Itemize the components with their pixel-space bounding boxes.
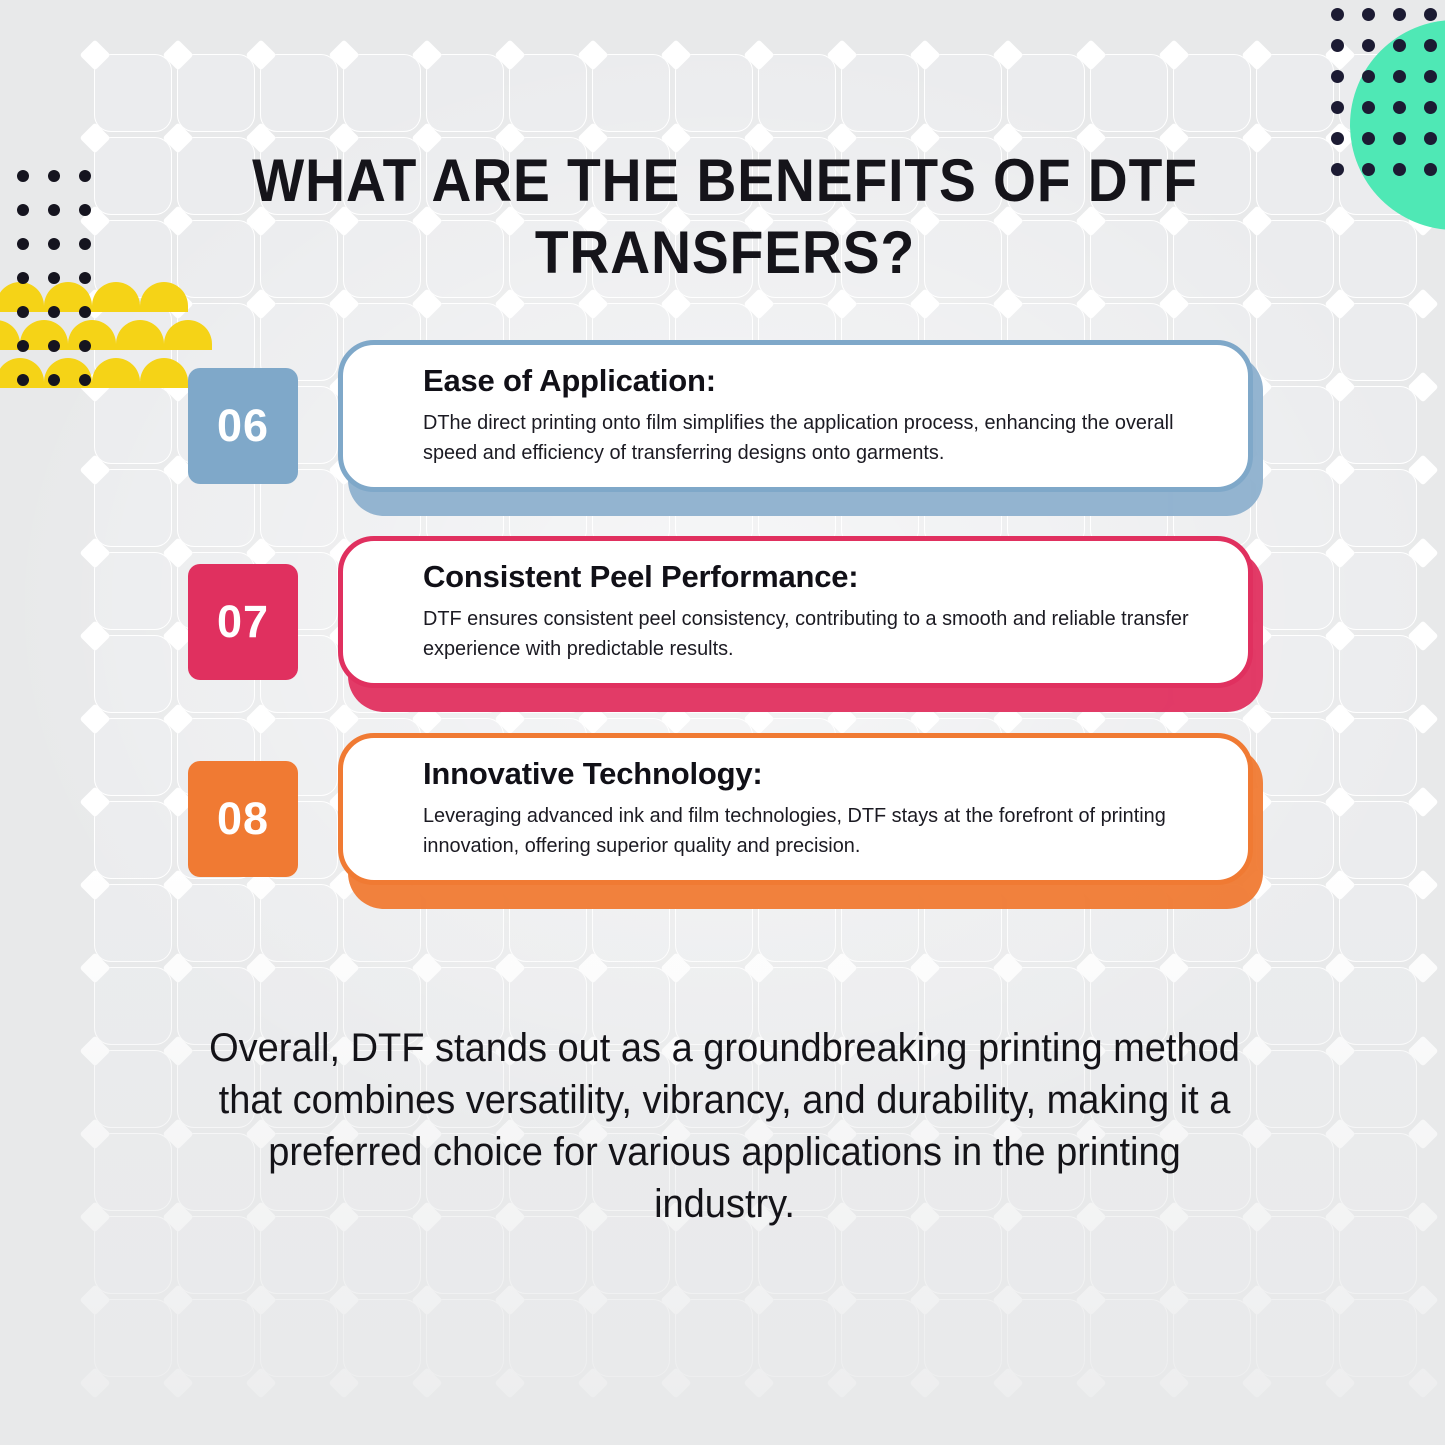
- benefit-number-badge: 07: [188, 564, 298, 680]
- benefit-card: Consistent Peel Performance: DTF ensures…: [338, 536, 1263, 712]
- benefit-heading: Innovative Technology:: [423, 754, 1220, 794]
- card-surface: Ease of Application: DThe direct printin…: [338, 340, 1253, 492]
- benefit-number-badge: 08: [188, 761, 298, 877]
- benefit-item-07: 07 Consistent Peel Performance: DTF ensu…: [188, 536, 1263, 712]
- benefit-body-text: Leveraging advanced ink and film technol…: [423, 801, 1196, 861]
- benefit-heading: Ease of Application:: [423, 361, 1220, 401]
- benefit-heading: Consistent Peel Performance:: [423, 557, 1220, 597]
- card-surface: Consistent Peel Performance: DTF ensures…: [338, 536, 1253, 688]
- benefit-body-text: DTF ensures consistent peel consistency,…: [423, 604, 1196, 664]
- benefit-card: Ease of Application: DThe direct printin…: [338, 340, 1263, 516]
- page-title: WHAT ARE THE BENEFITS OF DTF TRANSFERS?: [214, 145, 1235, 289]
- benefit-number-badge: 06: [188, 368, 298, 484]
- summary-paragraph: Overall, DTF stands out as a groundbreak…: [200, 1022, 1250, 1230]
- benefit-card: Innovative Technology: Leveraging advanc…: [338, 733, 1263, 909]
- benefit-item-08: 08 Innovative Technology: Leveraging adv…: [188, 733, 1263, 909]
- benefit-body-text: DThe direct printing onto film simplifie…: [423, 408, 1196, 468]
- card-surface: Innovative Technology: Leveraging advanc…: [338, 733, 1253, 885]
- benefit-item-06: 06 Ease of Application: DThe direct prin…: [188, 340, 1263, 516]
